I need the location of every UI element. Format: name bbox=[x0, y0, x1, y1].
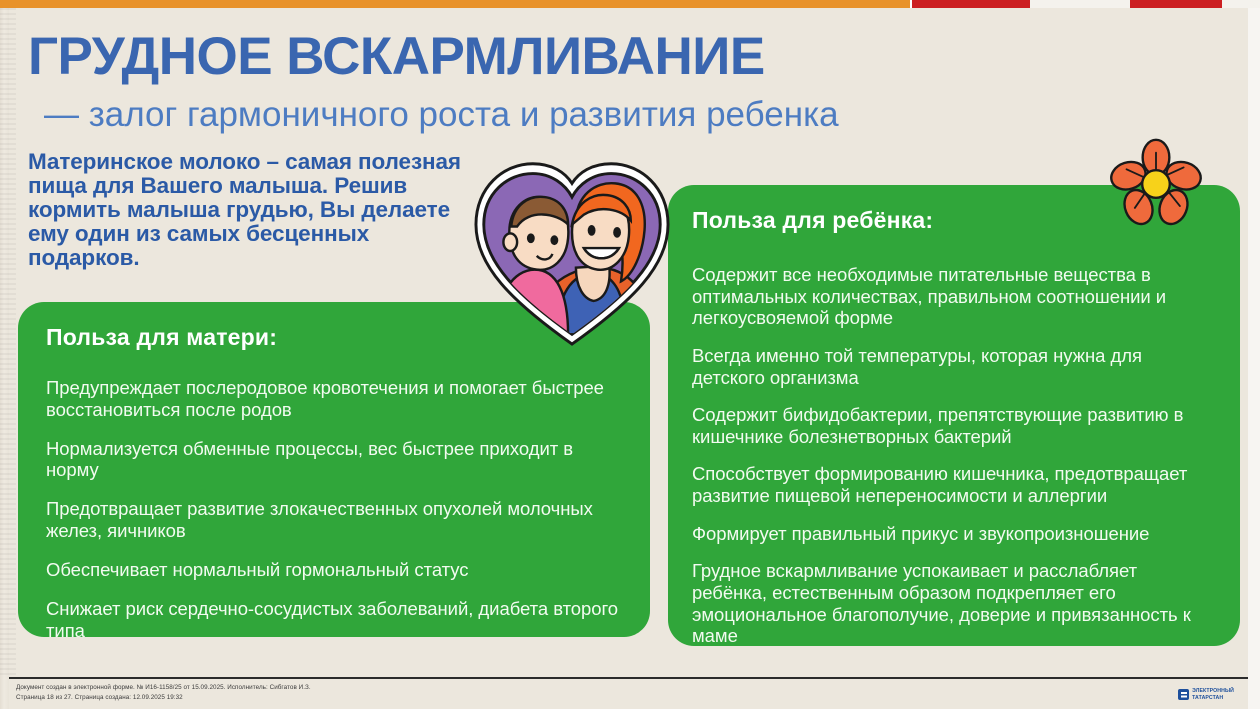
list-item: Всегда именно той температуры, которая н… bbox=[692, 345, 1214, 388]
benefits-for-child-list: Содержит все необходимые питательные вещ… bbox=[692, 264, 1214, 647]
page-right-gutter bbox=[1248, 8, 1260, 709]
list-item: Снижает риск сердечно-сосудистых заболев… bbox=[46, 598, 620, 642]
benefits-for-child-panel: Польза для ребёнка: Содержит все необход… bbox=[668, 185, 1240, 646]
electronic-tatarstan-logo: ЭЛЕКТРОННЫЙ ТАТАРСТАН bbox=[1178, 688, 1234, 701]
ribbon-segment-red-2 bbox=[1130, 0, 1222, 8]
page-left-scan-strip bbox=[0, 8, 9, 709]
list-item: Обеспечивает нормальный гормональный ста… bbox=[46, 559, 620, 581]
footer-divider bbox=[9, 677, 1248, 679]
footer-line-2: Страница 18 из 27. Страница создана: 12.… bbox=[16, 693, 311, 703]
ribbon-segment-white-2 bbox=[1222, 0, 1260, 8]
list-item: Содержит все необходимые питательные вещ… bbox=[692, 264, 1214, 329]
intro-paragraph: Материнское молоко – самая полезная пища… bbox=[28, 150, 468, 270]
logo-text-line-1: ЭЛЕКТРОННЫЙ bbox=[1192, 688, 1234, 695]
document-page: ГРУДНОЕ ВСКАРМЛИВАНИЕ — залог гармонично… bbox=[0, 0, 1260, 709]
ribbon-segment-red-1 bbox=[912, 0, 1030, 8]
page-title: ГРУДНОЕ ВСКАРМЛИВАНИЕ bbox=[28, 30, 765, 83]
list-item: Предупреждает послеродовое кровотечения … bbox=[46, 377, 620, 421]
benefits-for-mother-list: Предупреждает послеродовое кровотечения … bbox=[46, 377, 620, 641]
page-subtitle: — залог гармоничного роста и развития ре… bbox=[44, 97, 839, 132]
ribbon-segment-white-1 bbox=[1030, 0, 1130, 8]
list-item: Предотвращает развитие злокачественных о… bbox=[46, 498, 620, 542]
flower-icon bbox=[1108, 138, 1204, 230]
page-top-ribbon bbox=[0, 0, 1260, 8]
heart-mother-and-baby-illustration bbox=[474, 152, 670, 348]
footer-line-1: Документ создан в электронной форме. № И… bbox=[16, 683, 311, 693]
benefits-for-mother-panel: Польза для матери: Предупреждает послеро… bbox=[18, 302, 650, 637]
list-item: Формирует правильный прикус и звукопроиз… bbox=[692, 523, 1214, 545]
list-item: Содержит бифидобактерии, препятствующие … bbox=[692, 404, 1214, 447]
ribbon-segment-orange bbox=[0, 0, 910, 8]
list-item: Способствует формированию кишечника, пре… bbox=[692, 463, 1214, 506]
logo-text: ЭЛЕКТРОННЫЙ ТАТАРСТАН bbox=[1192, 688, 1234, 701]
list-item: Нормализуется обменные процессы, вес быс… bbox=[46, 438, 620, 482]
list-item: Грудное вскармливание успокаивает и расс… bbox=[692, 560, 1214, 647]
logo-mark-icon bbox=[1178, 689, 1189, 700]
logo-text-line-2: ТАТАРСТАН bbox=[1192, 695, 1234, 702]
footer-metadata: Документ создан в электронной форме. № И… bbox=[16, 683, 311, 704]
